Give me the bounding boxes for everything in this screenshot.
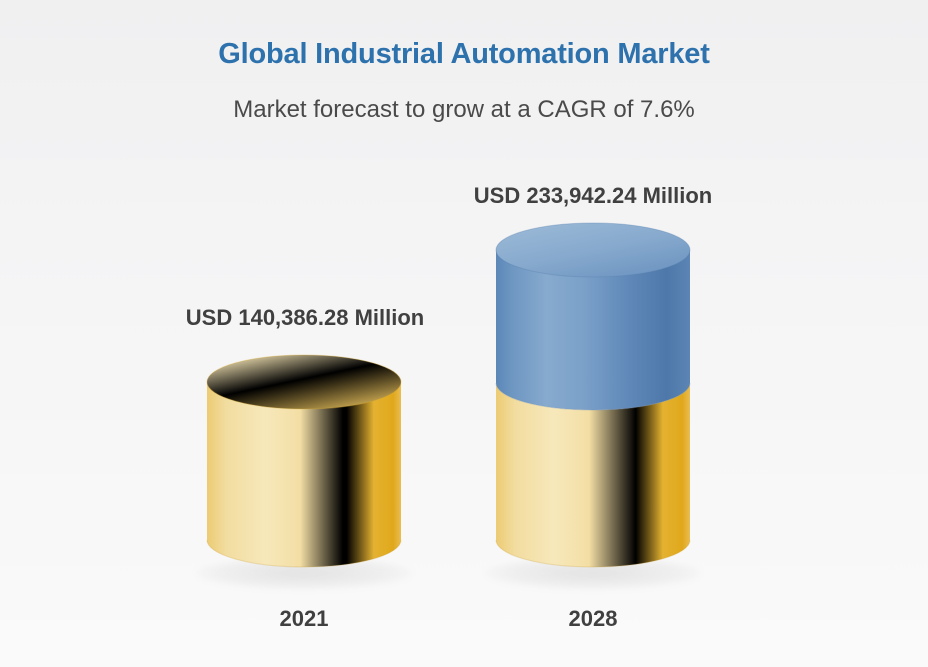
bar-category-label-2021: 2021 xyxy=(199,606,409,632)
bar-category-label-2028: 2028 xyxy=(488,606,698,632)
bar-cylinder-2021[interactable] xyxy=(199,352,409,592)
bar-value-label-2028: USD 233,942.24 Million xyxy=(308,183,878,209)
chart-plot-area: USD 140,386.28 Million xyxy=(0,0,928,667)
bar-cylinder-2028[interactable] xyxy=(488,220,698,592)
chart-canvas: Global Industrial Automation Market Mark… xyxy=(0,0,928,667)
